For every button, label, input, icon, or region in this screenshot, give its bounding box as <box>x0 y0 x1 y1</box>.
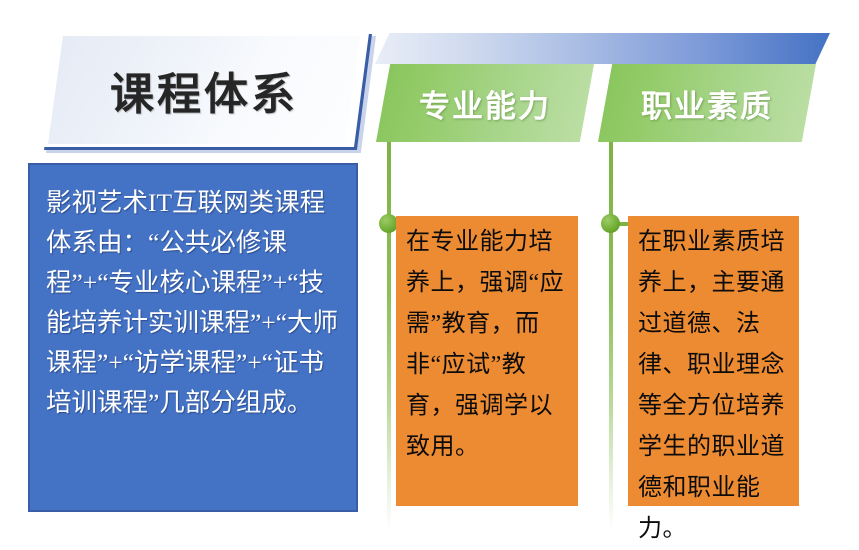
banner-label: 职业素质 <box>598 64 816 142</box>
panel-curriculum-text: 影视艺术IT互联网类课程体系由：“公共必修课程”+“专业核心课程”+“技能培养计… <box>46 183 342 423</box>
page-title: 课程体系 <box>48 36 360 144</box>
connector-line-vocational-quality <box>609 138 613 530</box>
slide-canvas: 课程体系 专业能力 职业素质 影视艺术IT互联网类课程体系由：“公共必修课程”+… <box>0 0 859 539</box>
banner-vocational-quality[interactable]: 职业素质 <box>598 64 816 142</box>
banner-label: 专业能力 <box>376 64 594 142</box>
panel-professional-ability: 在专业能力培养上，强调“应需”教育，而非“应试”教育，强调学以致用。 <box>396 216 578 506</box>
connector-line-professional-ability <box>387 138 391 530</box>
connector-dot-vocational-quality <box>601 214 620 233</box>
panel-curriculum-system: 影视艺术IT互联网类课程体系由：“公共必修课程”+“专业核心课程”+“技能培养计… <box>28 163 358 512</box>
blue-gradient-bar <box>375 33 830 64</box>
panel-professional-ability-text: 在专业能力培养上，强调“应需”教育，而非“应试”教育，强调学以致用。 <box>406 222 570 468</box>
panel-vocational-quality-text: 在职业素质培养上，主要通过道德、法律、职业理念等全方位培养学生的职业道德和职业能… <box>638 222 791 550</box>
panel-vocational-quality: 在职业素质培养上，主要通过道德、法律、职业理念等全方位培养学生的职业道德和职业能… <box>628 216 799 506</box>
banner-professional-ability[interactable]: 专业能力 <box>376 64 594 142</box>
